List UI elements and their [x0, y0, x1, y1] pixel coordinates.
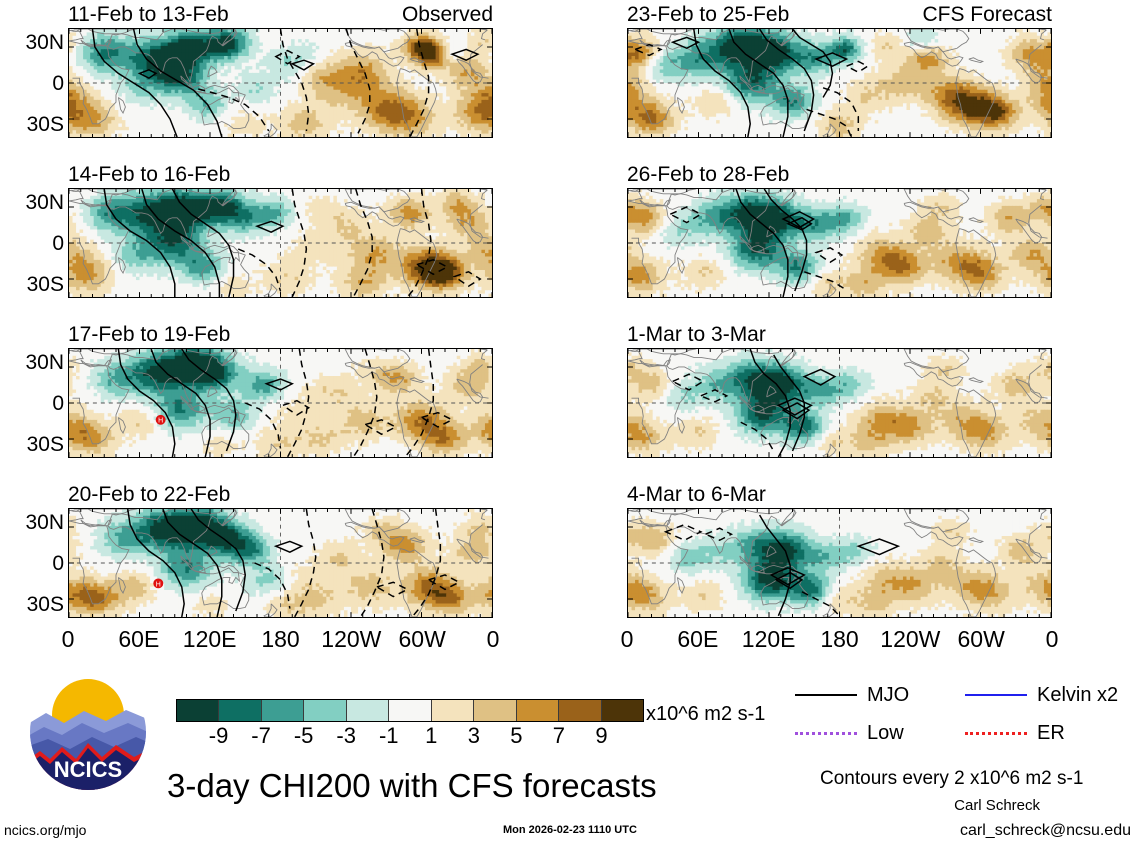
panel-p4: 20-Feb to 22-FebH	[68, 508, 493, 618]
colorbar-swatch-4	[347, 700, 389, 721]
panel-title-p2: 14-Feb to 16-Feb	[68, 164, 230, 186]
column-header-left: Observed	[402, 4, 493, 26]
panel-p3: 17-Feb to 19-FebH	[68, 348, 493, 458]
colorbar-swatch-2	[262, 700, 304, 721]
colorbar-tick-1: 1	[425, 725, 437, 747]
panel-title-p3: 17-Feb to 19-Feb	[68, 324, 230, 346]
colorbar-tick--5: -5	[294, 725, 314, 747]
colorbar-tick-3: 3	[468, 725, 480, 747]
colorbar-swatch-9	[559, 700, 601, 721]
colorbar-tick--3: -3	[336, 725, 356, 747]
ytick-label-0-row2: 0	[2, 233, 64, 254]
map-p5	[627, 28, 1052, 138]
contour-interval-note: Contours every 2 x10^6 m2 s-1	[820, 769, 1083, 788]
ytick-label-30n-row2: 30N	[2, 192, 64, 213]
legend-line-er	[965, 732, 1027, 735]
panel-title-p4: 20-Feb to 22-Feb	[68, 484, 230, 506]
xtick-right-2: 120E	[742, 628, 796, 651]
map-p4: H	[68, 508, 493, 618]
main-title: 3-day CHI200 with CFS forecasts	[167, 769, 657, 803]
panel-p6: 26-Feb to 28-Feb	[627, 188, 1052, 298]
colorbar-tick--1: -1	[379, 725, 399, 747]
ytick-label-30s-row2: 30S	[2, 274, 64, 295]
xtick-right-0: 0	[621, 628, 634, 651]
author-name: Carl Schreck	[954, 798, 1040, 813]
colorbar-swatch-10	[602, 700, 643, 721]
logo-text: NCICS	[54, 757, 122, 782]
xtick-left-0: 0	[62, 628, 75, 651]
xtick-right-1: 60E	[677, 628, 718, 651]
site-url[interactable]: ncics.org/mjo	[4, 823, 86, 837]
map-p1	[68, 28, 493, 138]
colorbar-swatch-7	[474, 700, 516, 721]
ytick-label-0-row3: 0	[2, 393, 64, 414]
colorbar-swatch-0	[177, 700, 219, 721]
map-p6	[627, 188, 1052, 298]
panel-grid: 30N 0 30S 30N 0 30S 30N 0 30S 30N 0 30S …	[0, 0, 1135, 665]
map-p8	[627, 508, 1052, 618]
ytick-label-30n-row1: 30N	[2, 32, 64, 53]
x-axis-right: 060E120E180120W60W0	[627, 628, 1052, 656]
ytick-label-30n-row4: 30N	[2, 512, 64, 533]
panel-p7: 1-Mar to 3-Mar	[627, 348, 1052, 458]
legend-line-low	[795, 732, 857, 735]
x-axis-left: 060E120E180120W60W0	[68, 628, 493, 656]
legend-label-kelvin: Kelvin x2	[1037, 685, 1118, 705]
ytick-label-0-row1: 0	[2, 73, 64, 94]
xtick-left-2: 120E	[183, 628, 237, 651]
xtick-left-5: 60W	[399, 628, 446, 651]
ytick-label-30s-row1: 30S	[2, 114, 64, 135]
cyclone-marker: H	[156, 415, 166, 425]
xtick-left-3: 180	[261, 628, 299, 651]
xtick-left-6: 0	[487, 628, 500, 651]
colorbar-tick-9: 9	[595, 725, 607, 747]
map-p2	[68, 188, 493, 298]
panel-p1: 11-Feb to 13-FebObserved	[68, 28, 493, 138]
panel-title-p8: 4-Mar to 6-Mar	[627, 484, 766, 506]
figure-footer: NCICS ncics.org/mjo Mon 2026-02-23 1110 …	[0, 665, 1135, 844]
colorbar-tick-7: 7	[553, 725, 565, 747]
colorbar-tick-5: 5	[510, 725, 522, 747]
column-header-right: CFS Forecast	[922, 4, 1052, 26]
ytick-label-30s-row4: 30S	[2, 594, 64, 615]
ncics-logo: NCICS	[26, 673, 150, 791]
xtick-left-1: 60E	[118, 628, 159, 651]
panel-title-p7: 1-Mar to 3-Mar	[627, 324, 766, 346]
contour-legend: MJO Kelvin x2 Low ER	[795, 685, 1135, 755]
author-email[interactable]: carl_schreck@ncsu.edu	[960, 823, 1131, 839]
panel-p5: 23-Feb to 25-FebCFS Forecast	[627, 28, 1052, 138]
ytick-label-30s-row3: 30S	[2, 434, 64, 455]
map-p3: H	[68, 348, 493, 458]
ytick-label-30n-row3: 30N	[2, 352, 64, 373]
ytick-label-0-row4: 0	[2, 553, 64, 574]
colorbar-ticks: -9-7-5-3-113579	[176, 725, 644, 751]
colorbar-tick--9: -9	[209, 725, 229, 747]
xtick-right-3: 180	[820, 628, 858, 651]
map-p7	[627, 348, 1052, 458]
legend-label-er: ER	[1037, 723, 1065, 743]
colorbar	[176, 699, 644, 722]
panel-title-p1: 11-Feb to 13-Feb	[68, 4, 229, 26]
colorbar-swatch-5	[389, 700, 431, 721]
xtick-right-6: 0	[1046, 628, 1059, 651]
panel-title-p6: 26-Feb to 28-Feb	[627, 164, 789, 186]
cyclone-marker: H	[153, 578, 163, 588]
panel-p8: 4-Mar to 6-Mar	[627, 508, 1052, 618]
legend-line-mjo	[795, 694, 857, 696]
colorbar-swatch-8	[517, 700, 559, 721]
colorbar-tick--7: -7	[251, 725, 271, 747]
colorbar-unit-label: x10^6 m2 s-1	[646, 704, 765, 724]
legend-line-kelvin	[965, 694, 1027, 696]
xtick-right-4: 120W	[880, 628, 940, 651]
colorbar-swatch-6	[432, 700, 474, 721]
panel-p2: 14-Feb to 16-Feb	[68, 188, 493, 298]
colorbar-swatch-3	[304, 700, 346, 721]
timestamp: Mon 2026-02-23 1110 UTC	[503, 825, 637, 836]
colorbar-swatch-1	[219, 700, 261, 721]
xtick-left-4: 120W	[321, 628, 381, 651]
xtick-right-5: 60W	[958, 628, 1005, 651]
legend-label-low: Low	[867, 723, 904, 743]
legend-label-mjo: MJO	[867, 685, 909, 705]
panel-title-p5: 23-Feb to 25-Feb	[627, 4, 789, 26]
